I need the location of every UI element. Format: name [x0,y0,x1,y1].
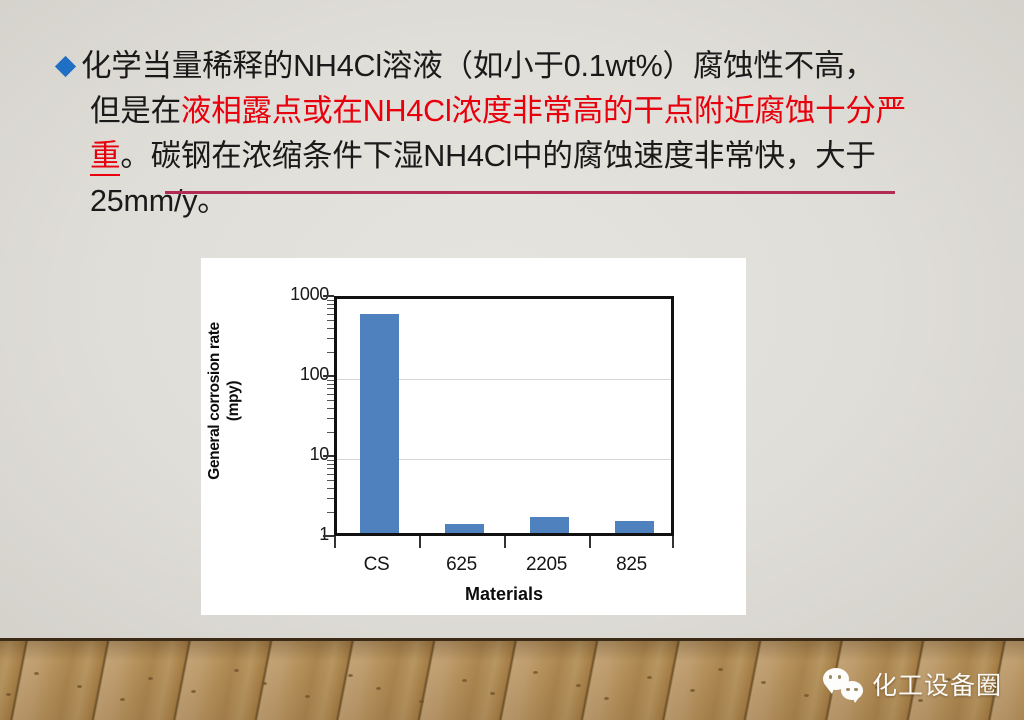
wechat-dot-4 [846,688,850,692]
y-tick-minor [327,300,334,301]
watermark-text: 化工设备圈 [872,666,1002,702]
x-axis-title: Materials [334,584,674,605]
y-tick-minor [327,384,334,385]
y-tick-minor [327,474,334,475]
body-line-2-prefix: 但是在 [90,94,181,128]
x-axis-category-labels: CS6252205825 [334,554,674,576]
y-tick-minor [327,388,334,389]
body-line-3: 重。碳钢在浓缩条件下湿NH4Cl中的腐蚀速度非常快，大于 [58,134,970,179]
y-axis-title-line-2: (mpy) [224,381,243,421]
x-category-label: CS [334,554,419,576]
y-tick-minor [327,418,334,419]
y-tick-minor [327,400,334,401]
y-tick-minor [327,432,334,433]
x-tick [334,536,336,548]
y-tick-minor [327,314,334,315]
y-tick-minor [327,468,334,469]
presentation-slide: 化学当量稀释的NH4Cl溶液（如小于0.1wt%）腐蚀性不高， 但是在液相露点或… [0,0,1024,720]
x-tick [504,536,506,548]
y-tick-minor [327,328,334,329]
wechat-dot-3 [854,688,858,692]
bar-CS [360,314,399,533]
y-tick-minor [327,338,334,339]
y-tick-minor [327,460,334,461]
y-tick-minor [327,512,334,513]
y-axis-title: General corrosion rate (mpy) [205,276,243,526]
bar-2205 [530,517,569,533]
y-tick-minor [327,464,334,465]
plot-area [334,296,674,536]
body-line-1: 化学当量稀释的NH4Cl溶液（如小于0.1wt%）腐蚀性不高， [58,44,970,89]
chart-panel: General corrosion rate (mpy) 1000100101 … [201,258,746,615]
x-category-label: 825 [589,554,674,576]
y-axis-tick-labels: 1000100101 [261,296,329,536]
body-line-2-highlight: 液相露点或在NH4Cl浓度非常高的干点附近腐蚀十分严 [181,94,906,128]
y-tick-major [323,535,334,537]
y-tick-minor [327,488,334,489]
y-tick-label: 1 [271,524,329,545]
y-tick-label: 10 [271,444,329,465]
chart-inner: General corrosion rate (mpy) 1000100101 … [201,258,746,615]
y-tick-minor [327,408,334,409]
wechat-icon [823,668,863,700]
x-tick [589,536,591,548]
y-tick-minor [327,352,334,353]
y-tick-major [323,455,334,457]
y-tick-minor [327,320,334,321]
y-tick-minor [327,380,334,381]
y-tick-label: 100 [271,364,329,385]
y-tick-major [323,375,334,377]
y-tick-minor [327,394,334,395]
maroon-underline-rule [165,191,895,194]
y-tick-label: 1000 [271,284,329,305]
watermark: 化工设备圈 [823,666,1002,702]
y-tick-minor [327,498,334,499]
body-line-3-text: 。碳钢在浓缩条件下湿NH4Cl中的腐蚀速度非常快，大于 [120,139,875,173]
slide-body-text: 化学当量稀释的NH4Cl溶液（如小于0.1wt%）腐蚀性不高， 但是在液相露点或… [58,44,970,224]
body-line-4-text: 25mm/y。 [90,184,228,218]
y-tick-minor [327,304,334,305]
y-tick-major [323,295,334,297]
bar-625 [445,524,484,533]
y-tick-minor [327,308,334,309]
bar-825 [615,521,654,533]
x-tick [419,536,421,548]
body-line-3-highlight: 重 [90,139,120,176]
diamond-bullet-icon [55,56,76,77]
y-axis-title-line-1: General corrosion rate [205,322,224,479]
x-category-label: 625 [419,554,504,576]
body-line-1-text: 化学当量稀释的NH4Cl溶液（如小于0.1wt%）腐蚀性不高， [81,44,875,89]
y-tick-minor [327,480,334,481]
x-category-label: 2205 [504,554,589,576]
x-tick [672,536,674,548]
body-line-4: 25mm/y。 [58,179,970,224]
wechat-bubble-small [841,681,863,700]
body-line-2: 但是在液相露点或在NH4Cl浓度非常高的干点附近腐蚀十分严 [58,89,970,134]
